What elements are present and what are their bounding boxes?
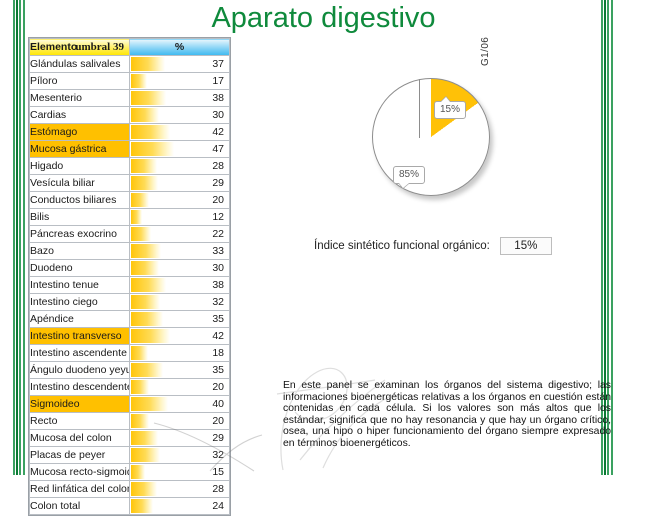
synthetic-index-value: 15% bbox=[500, 237, 552, 255]
table-row[interactable]: Ángulo duodeno yeyunal35 bbox=[30, 362, 230, 379]
organ-name-cell: Mucosa recto-sigmoidea bbox=[30, 464, 130, 481]
table-header-row: Elemento umbral 39 % bbox=[30, 39, 230, 56]
organ-name-cell: Bilis bbox=[30, 209, 130, 226]
organ-value-cell: 28 bbox=[130, 481, 230, 498]
organ-name-cell: Intestino ascendente bbox=[30, 345, 130, 362]
organ-values-table: Elemento umbral 39 % Glándulas salivales… bbox=[28, 37, 231, 516]
organ-value-cell: 20 bbox=[130, 413, 230, 430]
organ-name-cell: Higado bbox=[30, 158, 130, 175]
page-title: Aparato digestivo bbox=[0, 2, 647, 35]
organ-value-cell: 22 bbox=[130, 226, 230, 243]
organ-value-cell: 15 bbox=[130, 464, 230, 481]
organ-name-cell: Páncreas exocrino bbox=[30, 226, 130, 243]
organ-value-cell: 32 bbox=[130, 294, 230, 311]
organ-name-cell: Intestino ciego bbox=[30, 294, 130, 311]
value-number: 29 bbox=[130, 175, 229, 191]
value-number: 47 bbox=[130, 141, 229, 157]
table-row[interactable]: Mucosa gástrica47 bbox=[30, 141, 230, 158]
value-number: 37 bbox=[130, 56, 229, 72]
table-row[interactable]: Higado28 bbox=[30, 158, 230, 175]
value-number: 42 bbox=[130, 124, 229, 140]
organ-value-cell: 38 bbox=[130, 277, 230, 294]
organ-value-cell: 32 bbox=[130, 447, 230, 464]
value-number: 28 bbox=[130, 481, 229, 497]
value-number: 35 bbox=[130, 362, 229, 378]
value-number: 29 bbox=[130, 430, 229, 446]
pie-slice-group bbox=[372, 78, 490, 196]
organ-value-cell: 20 bbox=[130, 379, 230, 396]
organ-value-cell: 12 bbox=[130, 209, 230, 226]
table-body: Glándulas salivales37Píloro17Mesenterio3… bbox=[30, 56, 230, 515]
table-row[interactable]: Mucosa del colon29 bbox=[30, 430, 230, 447]
organ-name-cell: Vesícula biliar bbox=[30, 175, 130, 192]
table-row[interactable]: Estómago42 bbox=[30, 124, 230, 141]
organ-name-cell: Bazo bbox=[30, 243, 130, 260]
pie-label-primary: 15% bbox=[434, 101, 466, 119]
organ-value-cell: 37 bbox=[130, 56, 230, 73]
table-row[interactable]: Mucosa recto-sigmoidea15 bbox=[30, 464, 230, 481]
chart-code-label: G1/06 bbox=[480, 37, 491, 66]
value-number: 42 bbox=[130, 328, 229, 344]
table-row[interactable]: Intestino ciego32 bbox=[30, 294, 230, 311]
value-number: 12 bbox=[130, 209, 229, 225]
pie-chart: 15% 85% G1/06 bbox=[360, 62, 530, 227]
value-number: 38 bbox=[130, 90, 229, 106]
value-number: 30 bbox=[130, 107, 229, 123]
organ-value-cell: 30 bbox=[130, 260, 230, 277]
table-row[interactable]: Píloro17 bbox=[30, 73, 230, 90]
organ-name-cell: Conductos biliares bbox=[30, 192, 130, 209]
organ-value-cell: 35 bbox=[130, 362, 230, 379]
table-row[interactable]: Sigmoideo40 bbox=[30, 396, 230, 413]
organ-value-cell: 42 bbox=[130, 328, 230, 345]
pie-label-secondary: 85% bbox=[393, 166, 425, 184]
value-number: 24 bbox=[130, 498, 229, 514]
table-row[interactable]: Intestino transverso42 bbox=[30, 328, 230, 345]
value-number: 20 bbox=[130, 379, 229, 395]
organ-value-cell: 38 bbox=[130, 90, 230, 107]
table-row[interactable]: Intestino ascendente18 bbox=[30, 345, 230, 362]
value-number: 30 bbox=[130, 260, 229, 276]
table-row[interactable]: Páncreas exocrino22 bbox=[30, 226, 230, 243]
value-number: 17 bbox=[130, 73, 229, 89]
organ-value-cell: 29 bbox=[130, 430, 230, 447]
table-row[interactable]: Conductos biliares20 bbox=[30, 192, 230, 209]
organ-name-cell: Estómago bbox=[30, 124, 130, 141]
organ-name-cell: Cardias bbox=[30, 107, 130, 124]
organ-name-cell: Glándulas salivales bbox=[30, 56, 130, 73]
organ-value-cell: 17 bbox=[130, 73, 230, 90]
value-number: 15 bbox=[130, 464, 229, 480]
column-header-percent: % bbox=[130, 39, 230, 56]
value-number: 28 bbox=[130, 158, 229, 174]
value-number: 20 bbox=[130, 413, 229, 429]
value-number: 33 bbox=[130, 243, 229, 259]
value-number: 35 bbox=[130, 311, 229, 327]
organ-name-cell: Red linfática del colon bbox=[30, 481, 130, 498]
organ-name-cell: Apéndice bbox=[30, 311, 130, 328]
organ-name-cell: Intestino transverso bbox=[30, 328, 130, 345]
organ-value-cell: 47 bbox=[130, 141, 230, 158]
organ-name-cell: Duodeno bbox=[30, 260, 130, 277]
organ-value-cell: 29 bbox=[130, 175, 230, 192]
synthetic-index-row: Índice sintético funcional orgánico: 15% bbox=[314, 237, 552, 255]
organ-name-cell: Intestino descendente bbox=[30, 379, 130, 396]
value-number: 18 bbox=[130, 345, 229, 361]
organ-name-cell: Mesenterio bbox=[30, 90, 130, 107]
value-number: 22 bbox=[130, 226, 229, 242]
organ-name-cell: Mucosa del colon bbox=[30, 430, 130, 447]
organ-name-cell: Mucosa gástrica bbox=[30, 141, 130, 158]
threshold-label: umbral 39 bbox=[75, 41, 124, 53]
table-row[interactable]: Duodeno30 bbox=[30, 260, 230, 277]
column-header-element: Elemento umbral 39 bbox=[30, 39, 130, 56]
organ-name-cell: Intestino tenue bbox=[30, 277, 130, 294]
table-row[interactable]: Red linfática del colon28 bbox=[30, 481, 230, 498]
value-number: 32 bbox=[130, 447, 229, 463]
explanatory-paragraph: En este panel se examinan los órganos de… bbox=[283, 380, 611, 450]
table-row[interactable]: Apéndice35 bbox=[30, 311, 230, 328]
organ-value-cell: 30 bbox=[130, 107, 230, 124]
organ-value-cell: 24 bbox=[130, 498, 230, 515]
table-row[interactable]: Vesícula biliar29 bbox=[30, 175, 230, 192]
organ-name-cell: Píloro bbox=[30, 73, 130, 90]
organ-value-cell: 18 bbox=[130, 345, 230, 362]
value-number: 20 bbox=[130, 192, 229, 208]
value-number: 38 bbox=[130, 277, 229, 293]
organ-value-cell: 20 bbox=[130, 192, 230, 209]
organ-value-cell: 35 bbox=[130, 311, 230, 328]
organ-value-cell: 42 bbox=[130, 124, 230, 141]
pie-start-divider bbox=[419, 79, 420, 138]
table-row[interactable]: Bilis12 bbox=[30, 209, 230, 226]
left-green-stripe bbox=[12, 0, 26, 475]
table-row[interactable]: Intestino descendente20 bbox=[30, 379, 230, 396]
organ-name-cell: Colon total bbox=[30, 498, 130, 515]
table-row[interactable]: Placas de peyer32 bbox=[30, 447, 230, 464]
organ-value-cell: 28 bbox=[130, 158, 230, 175]
table-row[interactable]: Intestino tenue38 bbox=[30, 277, 230, 294]
organ-value-cell: 40 bbox=[130, 396, 230, 413]
organ-name-cell: Recto bbox=[30, 413, 130, 430]
organ-name-cell: Placas de peyer bbox=[30, 447, 130, 464]
table-row[interactable]: Recto20 bbox=[30, 413, 230, 430]
column-header-element-label: Elemento bbox=[30, 41, 77, 53]
table-row[interactable]: Mesenterio38 bbox=[30, 90, 230, 107]
value-number: 40 bbox=[130, 396, 229, 412]
organ-value-cell: 33 bbox=[130, 243, 230, 260]
synthetic-index-label: Índice sintético funcional orgánico: bbox=[314, 240, 490, 252]
value-number: 32 bbox=[130, 294, 229, 310]
table-row[interactable]: Bazo33 bbox=[30, 243, 230, 260]
table-row[interactable]: Cardias30 bbox=[30, 107, 230, 124]
organ-name-cell: Ángulo duodeno yeyunal bbox=[30, 362, 130, 379]
organ-name-cell: Sigmoideo bbox=[30, 396, 130, 413]
table-row[interactable]: Glándulas salivales37 bbox=[30, 56, 230, 73]
table-row[interactable]: Colon total24 bbox=[30, 498, 230, 515]
